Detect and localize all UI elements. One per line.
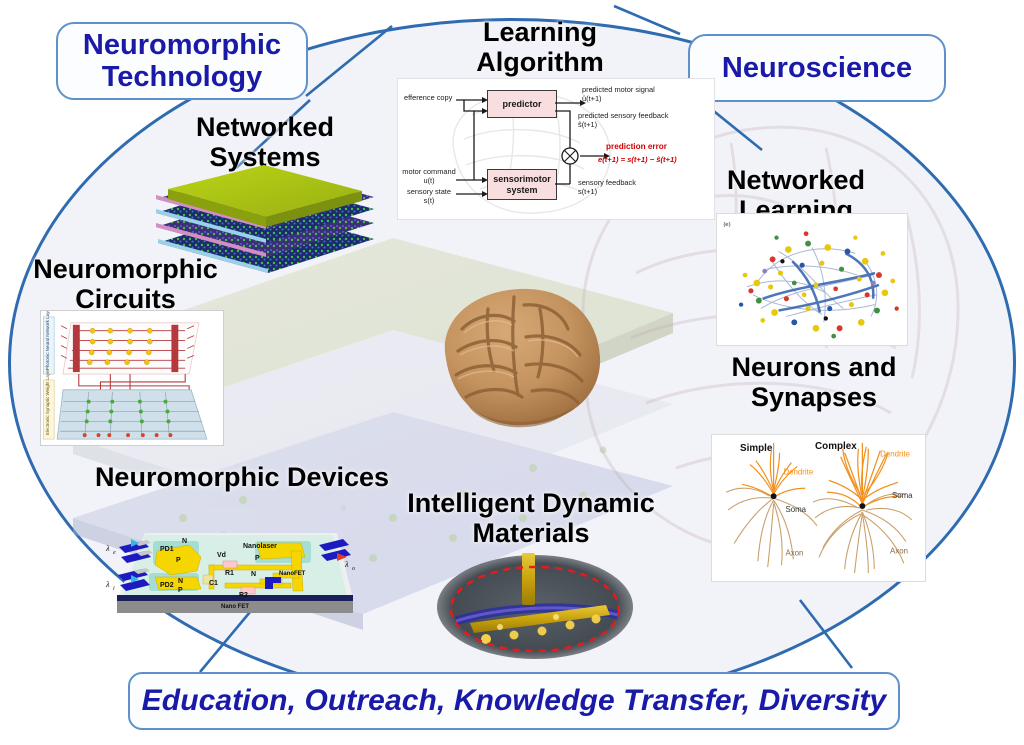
neuron-title-complex: Complex <box>815 441 857 452</box>
heading-neuromorphic-devices: Neuromorphic Devices <box>88 463 396 493</box>
device-label-nanofet-substrate: Nano FET <box>221 604 249 610</box>
device-label-n-bottom: N <box>178 578 183 585</box>
neuron-label-dendrite-simple: Dendrite <box>783 467 813 476</box>
heading-learning-algorithm: Learning Algorithm <box>390 18 690 77</box>
neuron-label-soma-complex: Soma <box>892 491 913 500</box>
learning-label-prediction-error: prediction error <box>606 142 667 153</box>
device-label-lambda-o: λ <box>344 559 349 569</box>
learning-label-sensory-state: sensory state s(t) <box>400 187 458 206</box>
heading-neuromorphic-circuits: Neuromorphic Circuits <box>8 255 243 314</box>
learning-label-predicted-motor-signal: predicted motor signal û(t+1) <box>582 85 655 104</box>
device-label-n-top: N <box>182 538 187 545</box>
learning-label-prediction-error-equation: e(t+1) = s(t+1) − ŝ(t+1) <box>598 155 677 165</box>
svg-text:o: o <box>352 566 355 572</box>
heading-neurons-and-synapses: Neurons and Synapses <box>688 353 940 412</box>
device-label-c1: C1 <box>209 580 218 587</box>
callout-neuromorphic-technology[interactable]: Neuromorphic Technology <box>56 22 308 100</box>
learning-label-predicted-sensory-feedback: predicted sensory feedback ŝ(t+1) <box>578 111 668 130</box>
neuromorphic-circuits-image: Photonic Neural Network Layer Electronic… <box>40 310 224 446</box>
neuron-label-dendrite-complex: Dendrite <box>880 450 910 459</box>
device-label-r1: R1 <box>225 570 234 577</box>
svg-text:Photonic Neural Network Layer: Photonic Neural Network Layer <box>45 310 50 370</box>
device-label-n-right: N <box>251 571 256 578</box>
learning-label-motor-command: motor command u(t) <box>400 167 458 186</box>
learning-label-efference-copy: efference copy <box>404 93 452 102</box>
heading-intelligent-dynamic-materials: Intelligent Dynamic Materials <box>386 489 676 548</box>
heading-networked-systems: Networked Systems <box>120 113 410 172</box>
neuromorphic-devices-image: Nano FET <box>105 495 363 630</box>
svg-text:i: i <box>113 586 115 592</box>
networked-learning-panel-tag: (e) <box>723 222 730 228</box>
device-label-pd1: PD1 <box>160 546 174 553</box>
figure-canvas: Neuromorphic Technology Neuroscience Edu… <box>0 0 1024 745</box>
device-label-lambda-e: λ <box>105 543 110 553</box>
device-label-pd2: PD2 <box>160 582 174 589</box>
neuron-label-axon-complex: Axon <box>890 546 908 555</box>
device-label-p-bottom: P <box>178 587 183 594</box>
intelligent-dynamic-materials-image <box>430 545 640 663</box>
device-label-vd: Vd <box>217 552 226 559</box>
callout-education-outreach[interactable]: Education, Outreach, Knowledge Transfer,… <box>128 672 900 730</box>
device-label-lambda-i: λ <box>105 579 110 589</box>
learning-label-sensory-feedback: sensory feedback s(t+1) <box>578 178 636 197</box>
device-label-nanolaser: Nanolaser <box>243 543 277 550</box>
device-label-r2: R2 <box>239 592 248 599</box>
neurons-and-synapses-image: Simple Complex Dendrite Soma <box>711 434 926 582</box>
neuron-label-soma-simple: Soma <box>785 505 806 514</box>
networked-learning-graph-image: (e) <box>716 213 908 346</box>
device-label-p-left: P <box>176 557 181 564</box>
neuron-title-simple: Simple <box>740 443 773 454</box>
central-brain-image <box>428 275 608 437</box>
callout-neuroscience[interactable]: Neuroscience <box>688 34 946 102</box>
device-label-p-right: P <box>255 555 260 562</box>
device-label-nanofet: NanoFET <box>279 571 306 577</box>
neuron-label-axon-simple: Axon <box>785 548 803 557</box>
svg-text:e: e <box>113 550 116 556</box>
svg-text:Electronic Synaptic Weight Lay: Electronic Synaptic Weight Layer <box>45 368 50 435</box>
